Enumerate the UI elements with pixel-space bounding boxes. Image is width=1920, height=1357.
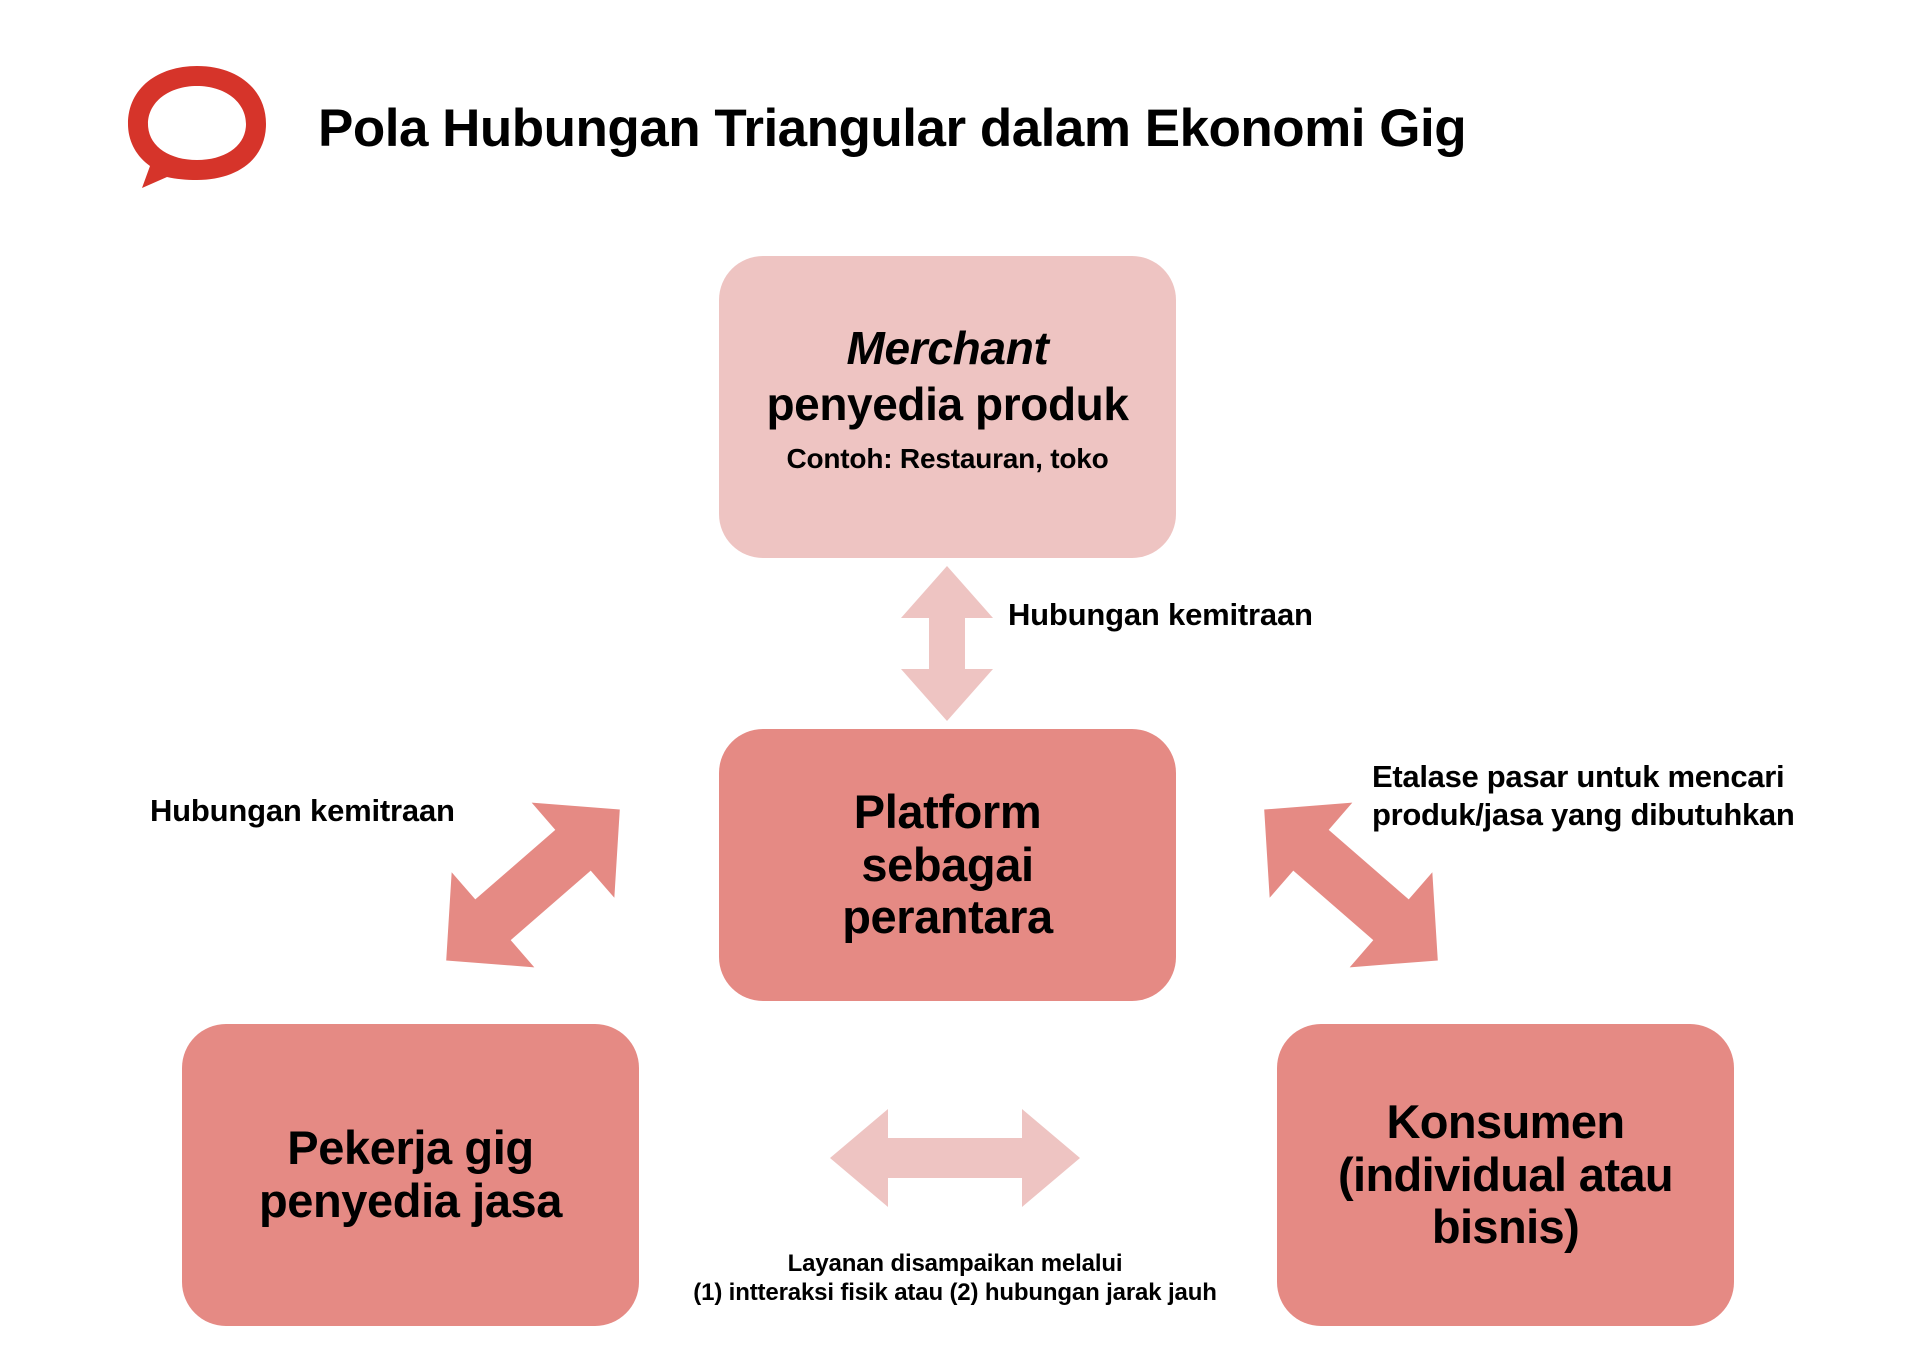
platform-line-2: sebagai — [861, 839, 1033, 892]
merchant-subtitle: penyedia produk — [766, 379, 1128, 431]
edge-label-worker-consumer-line-1: Layanan disampaikan melalui — [655, 1249, 1255, 1278]
edge-label-consumer-platform-line-2: produk/jasa yang dibutuhkan — [1372, 796, 1912, 834]
worker-line-1: Pekerja gig — [287, 1122, 533, 1175]
page-title: Pola Hubungan Triangular dalam Ekonomi G… — [318, 98, 1466, 159]
node-merchant[interactable]: Merchant penyedia produk Contoh: Restaur… — [719, 256, 1176, 558]
edge-label-worker-platform: Hubungan kemitraan — [150, 792, 455, 830]
edge-label-worker-consumer-line-2: (1) intteraksi fisik atau (2) hubungan j… — [655, 1278, 1255, 1307]
diagram-canvas: Pola Hubungan Triangular dalam Ekonomi G… — [0, 0, 1920, 1357]
node-consumer[interactable]: Konsumen (individual atau bisnis) — [1277, 1024, 1734, 1326]
consumer-line-1: Konsumen — [1386, 1096, 1624, 1149]
speech-bubble-icon — [124, 62, 270, 188]
edge-label-worker-consumer: Layanan disampaikan melalui (1) intterak… — [655, 1249, 1255, 1308]
platform-line-3: perantara — [842, 891, 1053, 944]
double-arrow-vertical-icon — [890, 566, 1004, 721]
edge-label-merchant-platform: Hubungan kemitraan — [1008, 596, 1313, 634]
edge-label-consumer-platform: Etalase pasar untuk mencari produk/jasa … — [1372, 758, 1912, 834]
node-worker[interactable]: Pekerja gig penyedia jasa — [182, 1024, 639, 1326]
header: Pola Hubungan Triangular dalam Ekonomi G… — [0, 0, 1920, 200]
consumer-line-2: (individual atau — [1338, 1149, 1673, 1202]
merchant-title: Merchant — [846, 323, 1048, 375]
consumer-line-3: bisnis) — [1432, 1201, 1579, 1254]
merchant-example: Contoh: Restauran, toko — [786, 443, 1108, 475]
double-arrow-horizontal-icon — [830, 1109, 1080, 1207]
edge-label-consumer-platform-line-1: Etalase pasar untuk mencari — [1372, 758, 1912, 796]
worker-line-2: penyedia jasa — [259, 1175, 562, 1228]
platform-line-1: Platform — [854, 786, 1041, 839]
node-platform[interactable]: Platform sebagai perantara — [719, 729, 1176, 1001]
